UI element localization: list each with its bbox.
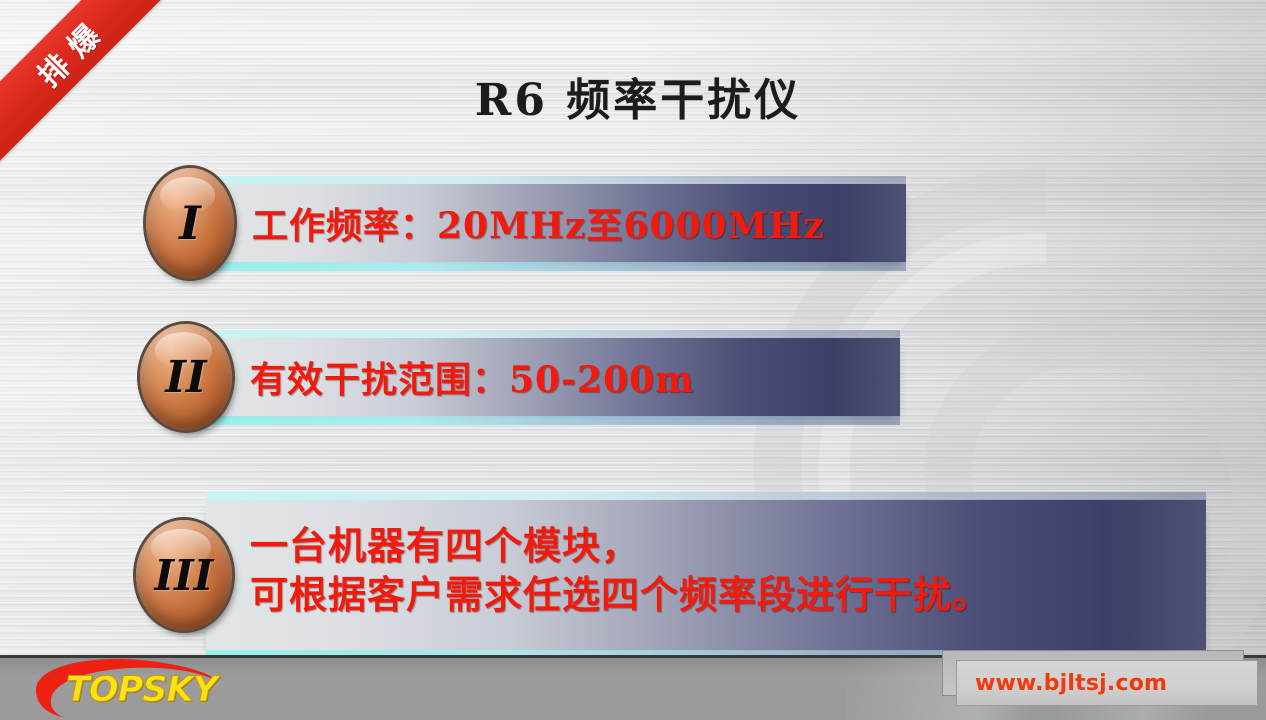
content-bar-3: 一台机器有四个模块， 可根据客户需求任选四个频率段进行干扰。 [206, 500, 1206, 650]
page-title: R6 频率干扰仪 [0, 64, 1266, 128]
content-row-3: III 一台机器有四个模块， 可根据客户需求任选四个频率段进行干扰。 [136, 490, 1206, 660]
slide-canvas: 排爆 R6 频率干扰仪 I 工作频率：20MHz至6000MHz II 有效干扰… [0, 0, 1266, 720]
badge-numeral-3: III [136, 520, 232, 630]
badge-numeral-2-label: II [165, 352, 206, 403]
content-bar-2: 有效干扰范围：50-200m [208, 338, 900, 416]
topsky-logo-text: TOPSKY [66, 670, 217, 710]
content-row-2-text: 有效干扰范围：50-200m [208, 351, 694, 403]
content-bar-1: 工作频率：20MHz至6000MHz [210, 184, 906, 262]
website-plate-front: www.bjltsj.com [956, 660, 1258, 706]
content-row-1: I 工作频率：20MHz至6000MHz [146, 168, 906, 278]
badge-numeral-3-label: III [155, 551, 214, 600]
badge-numeral-1-label: I [179, 196, 201, 250]
page-title-text: R6 频率干扰仪 [465, 64, 802, 128]
topsky-logo: TOPSKY [18, 656, 248, 718]
website-plate: www.bjltsj.com [956, 660, 1258, 706]
badge-numeral-2: II [140, 324, 232, 430]
content-row-2: II 有效干扰范围：50-200m [140, 322, 900, 432]
content-row-3-lines: 一台机器有四个模块， 可根据客户需求任选四个频率段进行干扰。 [206, 500, 991, 619]
content-row-1-text: 工作频率：20MHz至6000MHz [210, 197, 825, 249]
content-row-3-line-1: 一台机器有四个模块， [250, 522, 991, 571]
website-url[interactable]: www.bjltsj.com [957, 671, 1167, 696]
badge-numeral-1: I [146, 168, 234, 278]
content-row-3-line-2: 可根据客户需求任选四个频率段进行干扰。 [250, 571, 991, 620]
